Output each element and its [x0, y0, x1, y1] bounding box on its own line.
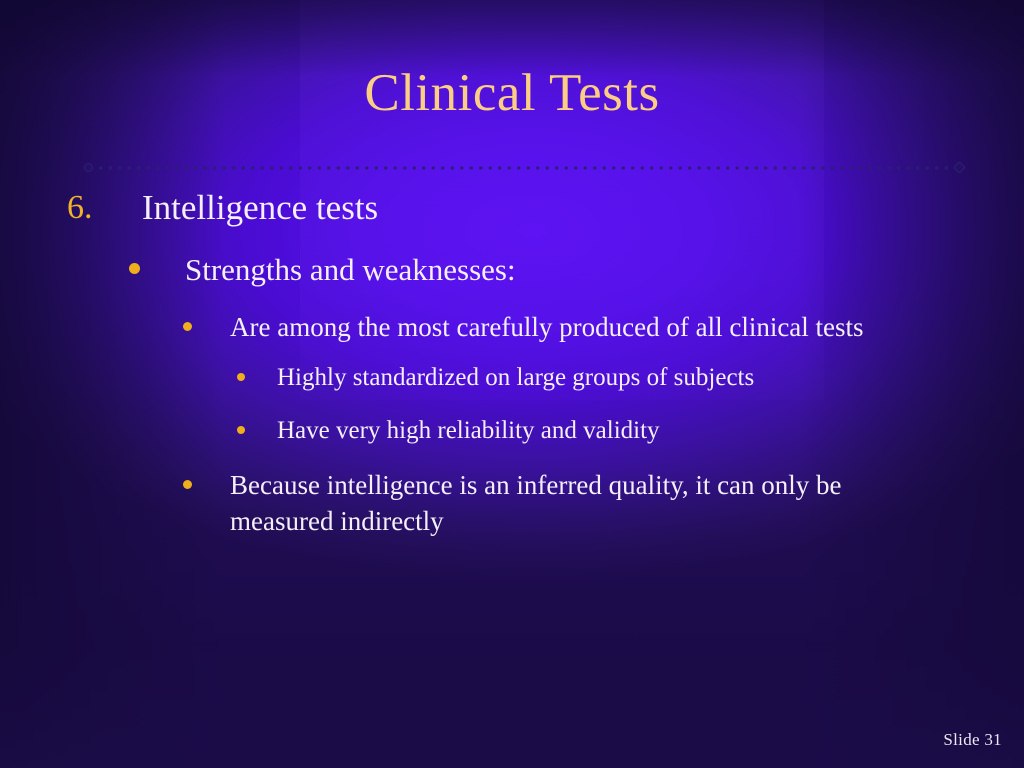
divider-dots	[96, 166, 952, 170]
outline-item-level-4: Highly standardized on large groups of s…	[0, 361, 1024, 395]
outline-item-text: Have very high reliability and validity	[277, 414, 1024, 448]
bullet-dot-icon	[237, 426, 245, 434]
bullet-dot-icon	[183, 480, 192, 489]
divider-end-diamond-icon	[953, 161, 966, 174]
outline-item-text: Are among the most carefully produced of…	[230, 309, 870, 345]
list-number-marker: 6.	[67, 186, 93, 230]
outline-item-level-1: 6. Intelligence tests	[0, 186, 1024, 230]
title-divider	[84, 163, 964, 173]
outline-item-text: Highly standardized on large groups of s…	[277, 361, 1024, 395]
outline-item-text: Because intelligence is an inferred qual…	[230, 467, 870, 539]
presentation-slide: Clinical Tests 6. Intelligence tests Str…	[0, 0, 1024, 768]
slide-body-outline: 6. Intelligence tests Strengths and weak…	[0, 186, 1024, 555]
slide-title: Clinical Tests	[0, 66, 1024, 122]
outline-item-text: Strengths and weaknesses:	[185, 250, 1024, 290]
bullet-dot-icon	[183, 322, 192, 331]
outline-item-level-4: Have very high reliability and validity	[0, 414, 1024, 448]
outline-item-text: Intelligence tests	[142, 186, 1024, 230]
outline-item-level-2: Strengths and weaknesses:	[0, 250, 1024, 290]
outline-item-level-3: Are among the most carefully produced of…	[0, 309, 1024, 345]
outline-item-level-3: Because intelligence is an inferred qual…	[0, 467, 1024, 539]
slide-number-footer: Slide 31	[943, 730, 1002, 750]
bullet-dot-icon	[237, 373, 245, 381]
divider-start-circle-icon	[84, 163, 93, 172]
bullet-dot-icon	[129, 263, 140, 274]
